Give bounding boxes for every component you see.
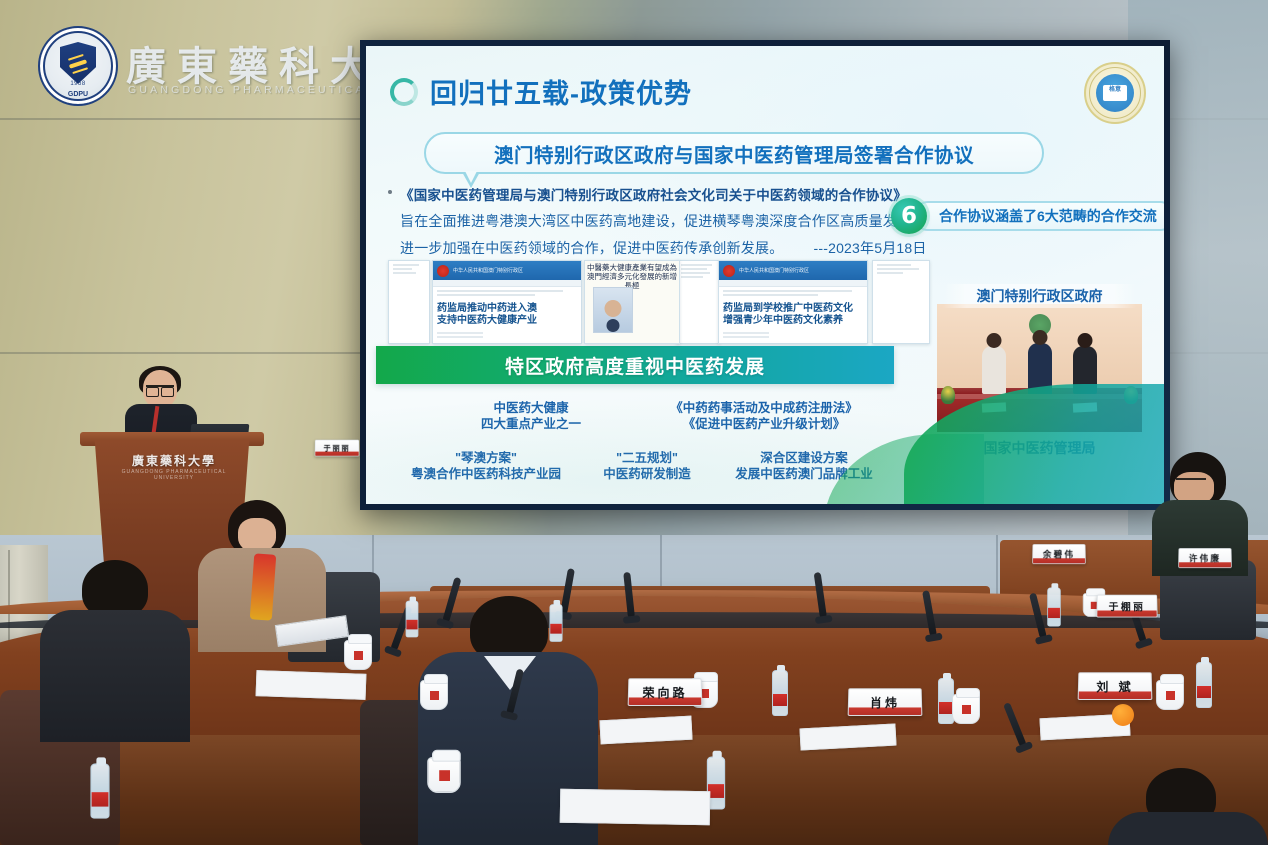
clipping-headline-line1: 中醫藥大健康產業有望成為 <box>587 263 677 272</box>
clipping-edge-right <box>872 260 930 344</box>
seal-year: 1958 <box>40 81 116 87</box>
document-sheet <box>256 670 367 700</box>
clipping-lines <box>719 287 867 301</box>
attendee-bottom-right <box>1108 768 1268 845</box>
clipping-footer <box>723 332 769 340</box>
bullet-icon <box>388 190 392 194</box>
attendee-body <box>1108 812 1268 845</box>
macau-university-emblem-icon: 格意 <box>1084 62 1146 124</box>
clipping-edge-left <box>388 260 430 344</box>
photo-label-top: 澳门特别行政区政府 <box>943 284 1136 308</box>
nameplate: 许伟廉 <box>1178 548 1232 568</box>
clipping-lines <box>389 261 429 279</box>
attendee-body <box>40 610 190 742</box>
green-banner: 特区政府高度重视中医药发展 <box>376 346 894 384</box>
slide-heading: 回归廿五载-政策优势 <box>430 72 692 111</box>
nameplate: 肖炜 <box>848 688 923 716</box>
national-emblem-icon <box>437 265 449 277</box>
orange-fruit <box>1112 704 1134 726</box>
clipping-headline-line2: 支持中医药大健康产业 <box>437 315 577 327</box>
tea-cup <box>1156 680 1184 710</box>
clipping-lines <box>677 261 719 283</box>
slide-body: 《国家中医药管理局与澳门特别行政区政府社会文化司关于中医药领域的合作协议》 旨在… <box>388 184 948 258</box>
national-emblem-icon <box>723 265 735 277</box>
podium-name-en: GUANGDONG PHARMACEUTICAL UNIVERSITY <box>110 469 238 481</box>
news-clipping-portrait: 中醫藥大健康產業有望成為 澳門經濟多元化發展的新增長極 <box>584 260 680 344</box>
projection-screen-bezel: 回归廿五载-政策优势 格意 澳门特别行政区政府与国家中医药管理局签署合作协议 《… <box>360 40 1170 510</box>
tea-cup <box>952 694 980 724</box>
water-bottle <box>772 670 788 716</box>
conference-room-photo: 1958 GDPU 廣東藥科大學 GUANGDONG PHARMACEUTICA… <box>0 0 1268 845</box>
clipping-portal-header: 中华人民共和国澳门特别行政区 <box>433 261 581 280</box>
nameplate: 于棚丽 <box>1096 595 1157 618</box>
water-bottle <box>1196 662 1212 708</box>
slide-subtitle: 澳门特别行政区政府与国家中医药管理局签署合作协议 <box>494 139 974 168</box>
podium-name-cn: 廣東藥科大學 <box>110 452 238 469</box>
clipping-navbar <box>719 280 867 287</box>
glasses-icon <box>146 385 174 393</box>
clipping-portal-header: 中华人民共和国澳门特别行政区 <box>719 261 867 280</box>
clipping-footer <box>437 332 483 340</box>
news-clippings: 中华人民共和国澳门特别行政区 药监局推动中药进入澳 支持中医药大健康产业 <box>388 256 948 348</box>
scope-callout-pill: 合作协议涵盖了6大范畴的合作交流 <box>913 201 1164 231</box>
document-sheet <box>560 789 711 826</box>
seal-abbreviation: GDPU <box>40 91 116 98</box>
attendee-reading-documents <box>198 500 326 650</box>
agreement-desc-line1: 旨在全面推进粤港澳大湾区中医药高地建设，促进横琴粤澳深度合作区高质量发展， <box>400 211 948 231</box>
water-bottle <box>1047 587 1061 626</box>
water-bottle <box>549 604 562 642</box>
number-badge: 6 <box>891 198 927 234</box>
clipping-headline-line1: 药监局到学校推广中医药文化 <box>723 303 863 315</box>
university-logo: 1958 GDPU 廣東藥科大學 GUANGDONG PHARMACEUTICA… <box>8 20 380 116</box>
glasses-icon <box>1176 478 1206 485</box>
agreement-desc-line2: 进一步加强在中医药领域的合作，促进中医药传承创新发展。 ---2023年5月18… <box>400 238 948 258</box>
tea-cup <box>427 757 461 793</box>
agreement-desc-text: 进一步加强在中医药领域的合作，促进中医药传承创新发展。 <box>400 240 783 256</box>
clipping-headline-line1: 药监局推动中药进入澳 <box>437 303 577 315</box>
portrait-photo <box>593 287 633 333</box>
clipping-column-strip <box>676 260 720 344</box>
tea-cup <box>344 640 372 670</box>
water-bottle <box>406 601 419 638</box>
tea-cup <box>420 680 448 710</box>
attendee-scarf <box>250 553 277 620</box>
nameplate: 荣向路 <box>628 678 703 706</box>
presentation-slide: 回归廿五载-政策优势 格意 澳门特别行政区政府与国家中医药管理局签署合作协议 《… <box>366 46 1164 504</box>
attendee-left-foreground <box>40 560 190 740</box>
emblem-ring <box>1089 67 1141 119</box>
nameplate: 刘 斌 <box>1078 672 1153 700</box>
clipping-portal-name: 中华人民共和国澳门特别行政区 <box>739 267 809 274</box>
ring-icon <box>390 78 418 106</box>
university-seal-icon: 1958 GDPU <box>38 26 118 106</box>
scope-callout-text: 合作协议涵盖了6大范畴的合作交流 <box>939 206 1157 226</box>
slide-heading-row: 回归廿五载-政策优势 <box>390 72 692 111</box>
slide-subtitle-pill: 澳门特别行政区政府与国家中医药管理局签署合作协议 <box>424 132 1044 174</box>
clipping-headline: 中醫藥大健康產業有望成為 澳門經濟多元化發展的新增長極 <box>585 261 679 290</box>
clipping-headline-line2: 增强青少年中医药文化素养 <box>723 315 863 327</box>
clipping-headline: 药监局推动中药进入澳 支持中医药大健康产业 <box>437 303 577 327</box>
water-bottle <box>90 763 109 818</box>
agreement-title: 《国家中医药管理局与澳门特别行政区政府社会文化司关于中医药领域的合作协议》 <box>400 184 948 204</box>
clipping-navbar <box>433 280 581 287</box>
clipping-portal-name: 中华人民共和国澳门特别行政区 <box>453 267 523 274</box>
green-banner-text: 特区政府高度重视中医药发展 <box>505 352 765 379</box>
nameplate: 余碧伟 <box>1032 544 1086 564</box>
clipping-lines <box>433 287 581 301</box>
scope-callout: 6 合作协议涵盖了6大范畴的合作交流 <box>891 198 1164 234</box>
document-sheet <box>599 716 692 745</box>
shield-icon <box>60 42 96 84</box>
clipping-lines <box>873 261 929 279</box>
news-clipping: 中华人民共和国澳门特别行政区 药监局到学校推广中医药文化 增强青少年中医药文化素… <box>718 260 868 344</box>
nameplate: 于丽丽 <box>315 440 360 457</box>
news-clipping: 中华人民共和国澳门特别行政区 药监局推动中药进入澳 支持中医药大健康产业 <box>432 260 582 344</box>
clipping-headline: 药监局到学校推广中医药文化 增强青少年中医药文化素养 <box>723 303 863 327</box>
agreement-date: ---2023年5月18日 <box>814 240 927 256</box>
